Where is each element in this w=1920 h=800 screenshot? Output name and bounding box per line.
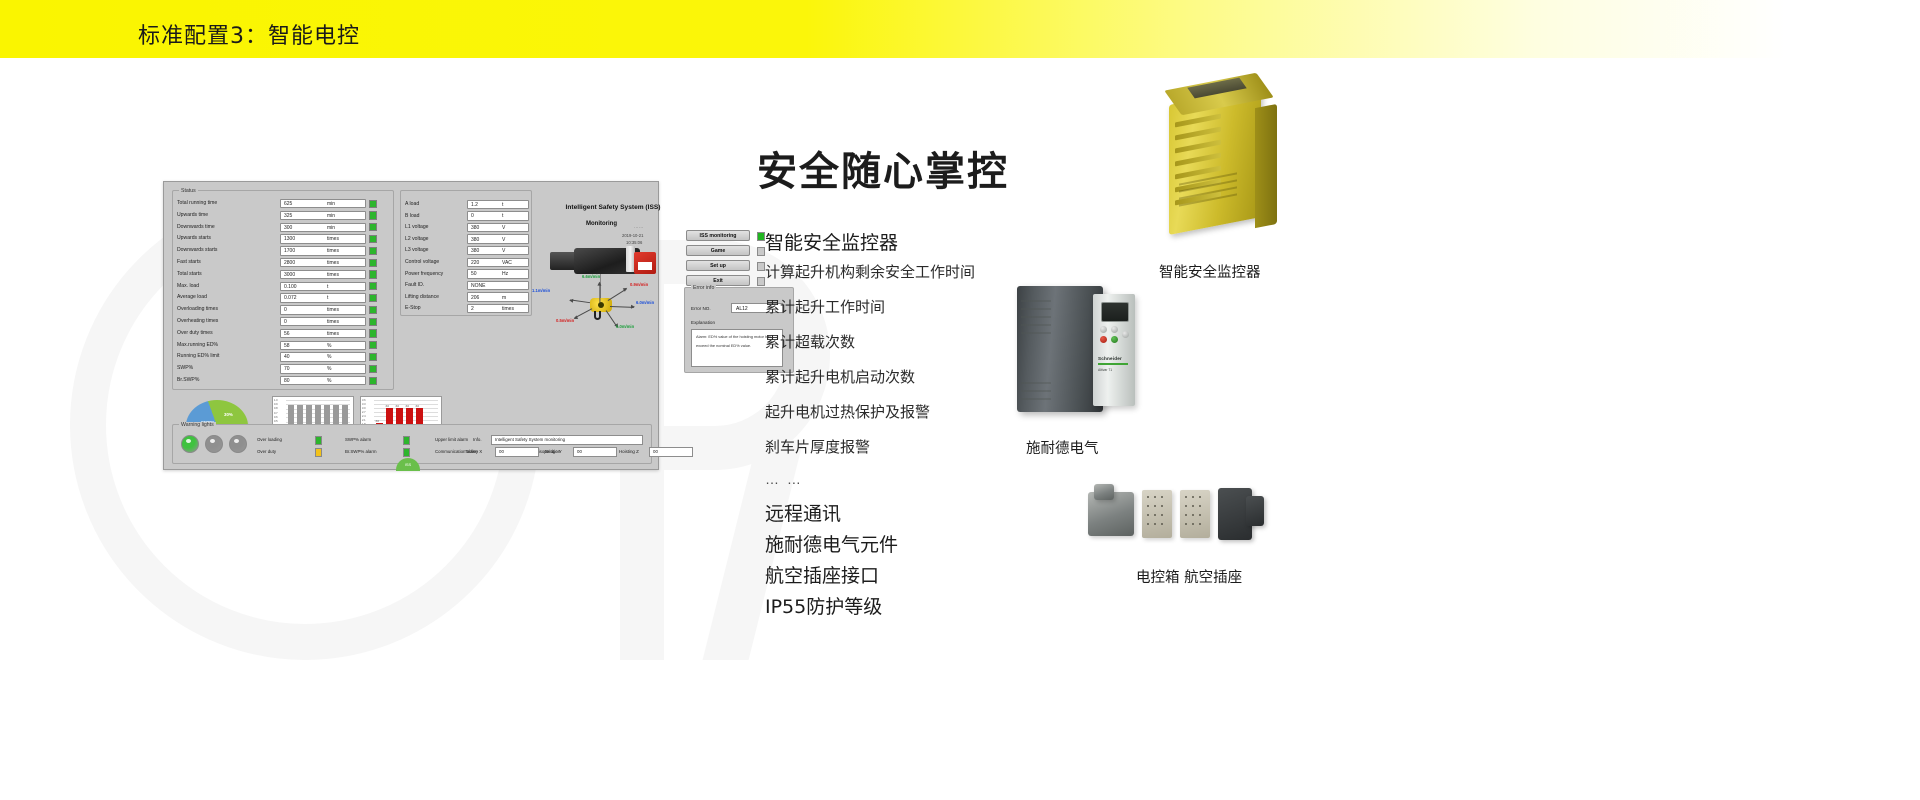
status-row-value: 625 [284,201,292,207]
feature-item: 计算起升机构剩余安全工作时间 [765,261,1157,282]
vfd-vent [1021,300,1051,302]
metric-row: A load1.2t [405,199,529,211]
status-row-label: Over duty times [177,330,213,336]
hmi-button-set-up[interactable]: Set up [686,260,750,271]
status-row-value: 3000 [284,272,295,278]
metric-row-value: 206 [471,295,479,301]
status-row-label: Br.SWP% [177,377,199,383]
error-explanation-label: Explanation [691,320,715,325]
status-row-value: 2800 [284,260,295,266]
metric-row-value: 50 [471,271,477,277]
status-row-label: Running ED% limit [177,353,219,359]
metric-row: E-Stop2times [405,303,529,315]
hoist-red-unit-graphic [634,252,656,274]
iss-mode-label: Monitoring [586,221,617,227]
metric-row-label: Control voltage [405,259,439,265]
status-row-led [369,294,377,302]
lamp-green [181,435,199,453]
vfd-vent [1021,316,1051,318]
status-row-field[interactable]: 3000times [280,270,366,279]
chart-y-tick: 2.1 [362,419,366,422]
status-row-label: Max.running ED% [177,342,218,348]
metric-row-unit: Hz [502,271,508,277]
connector-insert-female [1180,490,1210,538]
metric-row-label: L3 voltage [405,247,429,253]
metric-row-label: Power frequency [405,271,443,277]
metric-row-label: B load [405,213,419,219]
connector-insert-male [1142,490,1172,538]
status-row-value: 0.100 [284,284,297,290]
speed-label: 6.0m/min [636,300,654,305]
status-row-unit: times [327,307,339,313]
metric-row-value: 1.2 [471,202,478,208]
metric-row-field[interactable]: 206m [467,292,529,302]
status-row-value: 70 [284,366,290,372]
status-row-value: 1700 [284,248,295,254]
status-row-field[interactable]: 58% [280,341,366,350]
metric-row-field[interactable]: NONE [467,281,529,291]
status-row-label: Average load [177,294,207,300]
warning-indicator-led [403,436,410,445]
metric-row-label: L1 voltage [405,224,429,230]
metric-row-value: 2 [471,306,474,312]
status-row-field[interactable]: 0.100t [280,282,366,291]
status-row: Upwards starts1300times [177,234,391,245]
vfd-display-screen [1101,302,1129,322]
status-row-unit: times [327,248,339,254]
vfd-brand-text: Schneider [1098,356,1122,361]
vfd-vent [1021,332,1051,334]
vfd-nav-key[interactable] [1111,326,1118,333]
metric-row-value: 0 [471,213,474,219]
status-row-unit: times [327,236,339,242]
status-row: Upwards time325min [177,211,391,222]
hook-hole [598,302,604,308]
page-title: 标准配置3：智能电控 [138,18,360,50]
speed-arrow [599,283,600,303]
vfd-brand-bar [1098,363,1128,365]
iss-app-title: Intelligent Safety System (ISS) [548,204,678,211]
iss-time: 10:35:06 [626,240,642,245]
axis-value: 00 [577,449,582,454]
status-row-field[interactable]: 325min [280,211,366,220]
axis-label: Hoisting Z [619,449,639,454]
status-row: Overheating times0times [177,317,391,328]
status-group: Status Total running time625minUpwards t… [172,190,394,390]
metric-row: Lifting distance206m [405,292,529,304]
chart-data-label: 3.0 [396,405,399,408]
status-row-led [369,223,377,231]
metric-row-value: 380 [471,248,479,254]
metric-row-label: L2 voltage [405,236,429,242]
status-row-value: 56 [284,331,290,337]
vfd-vent [1021,398,1051,400]
metric-row-value: 220 [471,260,479,266]
hmi-button-game[interactable]: Game [686,245,750,256]
axis-label: Bridge Y [545,449,562,454]
metric-row: Power frequency50Hz [405,269,529,281]
speed-label: 0.5m/min [556,318,574,323]
metric-row: L2 voltage380V [405,234,529,246]
feature-item: 智能安全监控器 [765,228,1157,255]
metric-row-value: 380 [471,237,479,243]
status-row-label: Upwards starts [177,235,211,241]
axis-field[interactable]: 00 [495,447,539,457]
caption-connectors: 电控箱 航空插座 [1136,566,1242,587]
status-row-field[interactable]: 0.072t [280,293,366,302]
vfd-nav-key[interactable] [1100,326,1107,333]
speed-label: 0.0m/min [616,324,634,329]
error-group-title: Error info [691,285,716,291]
chart-y-tick: 2.4 [362,415,366,418]
status-row-field[interactable]: 40% [280,352,366,361]
vfd-run-key[interactable] [1111,336,1118,343]
warning-indicator-led [315,436,322,445]
hmi-button-iss-monitoring[interactable]: ISS monitoring [686,230,750,241]
warning-indicator-label: Upper limit alarm [435,437,468,442]
status-row-unit: times [327,272,339,278]
status-row-led [369,282,377,290]
feature-item: IP55防护等级 [765,592,1157,619]
status-row-unit: min [327,213,335,219]
status-row-field[interactable]: 1300times [280,234,366,243]
chart-data-label: 3.0 [406,405,409,408]
status-row-label: Total starts [177,271,202,277]
iss-mode-dots: ...... [634,224,644,229]
status-row-label: SWP% [177,365,193,371]
chart-y-tick: 3.6 [362,399,366,402]
status-row-led [369,377,377,385]
status-row-unit: times [327,260,339,266]
hoist-red-label [638,262,652,270]
speed-label: 6.6m/min [582,274,600,279]
status-row-field[interactable]: 300min [280,223,366,232]
metric-row-label: E-Stop [405,305,421,311]
status-row: Total starts3000times [177,270,391,281]
vfd-heatsink-body [1017,286,1103,412]
status-row-field[interactable]: 70% [280,364,366,373]
status-row-led [369,353,377,361]
warning-indicator-led [403,448,410,457]
warning-indicator-label: Over duty [257,449,276,454]
status-row-field[interactable]: 0times [280,305,366,314]
speed-arrow [570,299,590,303]
safety-relay-photo [1155,78,1285,243]
status-row-unit: min [327,201,335,207]
chart-data-label: 3.0 [376,420,379,423]
status-row: Max.running ED%58% [177,341,391,352]
status-row-value: 300 [284,225,292,231]
status-row-unit: min [327,225,335,231]
error-no-label: Error NO. [691,306,711,311]
vfd-vent [1021,382,1051,384]
status-row-field[interactable]: 1700times [280,246,366,255]
metric-row-value: 380 [471,225,479,231]
iss-date: 2019-10-21 [622,233,643,238]
status-row: Running ED% limit40% [177,352,391,363]
metric-row-field[interactable]: 0t [467,211,529,221]
status-row: Downwards starts1700times [177,246,391,257]
status-row-label: Upwards time [177,212,208,218]
caption-schneider: 施耐德电气 [1026,437,1099,458]
metric-row-field[interactable]: 50Hz [467,269,529,279]
feature-item: 航空插座接口 [765,561,1157,588]
status-row-unit: times [327,319,339,325]
status-row-led [369,270,377,278]
status-row-unit: % [327,378,331,384]
status-row-unit: % [327,354,331,360]
status-row: SWP%70% [177,364,391,375]
metric-row-label: A load [405,201,419,207]
iss-monitoring-area: Intelligent Safety System (ISS) Monitori… [538,190,678,390]
hmi-software-screenshot: Status Total running time625minUpwards t… [163,181,659,470]
metric-row-field[interactable]: 2times [467,304,529,314]
metric-row-field[interactable]: 380V [467,223,529,233]
status-row-value: 40 [284,354,290,360]
speed-label: 1.1m/min [532,288,550,293]
lamp-grey-1 [205,435,223,453]
status-row-led [369,200,377,208]
status-row-label: Fast starts [177,259,201,265]
info-value: Intelligent Safety System monitoring [495,437,565,442]
metric-row: Control voltage220VAC [405,257,529,269]
status-row-led [369,365,377,373]
axis-value: 00 [499,449,504,454]
chart-data-label: 3.0 [416,405,419,408]
chart-gridline [374,400,438,401]
info-field[interactable]: Intelligent Safety System monitoring [491,435,643,445]
vfd-front-panel: Schneider Altivar 71 [1093,294,1135,406]
vfd-vent [1021,390,1051,392]
vfd-keypad [1099,326,1131,352]
chart-y-tick: 0.5 [274,420,278,423]
status-row-value: 58 [284,343,290,349]
connector-cable-entry [1094,484,1114,500]
metric-row-field[interactable]: 380V [467,234,529,244]
chart-y-tick: 0.6 [274,416,278,419]
metric-row-unit: t [502,202,503,208]
status-row-unit: times [327,331,339,337]
metric-row-field[interactable]: 380V [467,246,529,256]
status-row-label: Downwards time [177,224,215,230]
metric-row-value: NONE [471,283,485,289]
status-row-unit: % [327,343,331,349]
vfd-vent [1021,308,1051,310]
status-row-led [369,329,377,337]
chart-data-label: 3.0 [386,405,389,408]
status-row: Fast starts2800times [177,258,391,269]
metric-row: L1 voltage380V [405,222,529,234]
error-no-value: AL12 [736,306,748,312]
status-row: Br.SWP%80% [177,376,391,387]
axis-field[interactable]: 00 [649,447,693,457]
status-row-field[interactable]: 0times [280,317,366,326]
speed-arrow [574,308,592,318]
metric-row-unit: m [502,295,506,301]
status-row-unit: t [327,284,328,290]
status-row-label: Overheating times [177,318,218,324]
metric-row: Fault ID.NONE [405,280,529,292]
status-row-field[interactable]: 2800times [280,258,366,267]
status-row: Over duty times56times [177,329,391,340]
status-row: Overloading times0times [177,305,391,316]
metric-row-field[interactable]: 1.2t [467,200,529,210]
status-row-value: 0.072 [284,295,297,301]
status-row-unit: t [327,295,328,301]
header-banner: 标准配置3：智能电控 [0,0,1920,58]
pie-label-other: 30% [224,412,233,417]
status-row-field[interactable]: 56times [280,329,366,338]
chart-y-tick: 3.3 [362,403,366,406]
metric-row-unit: V [502,248,505,254]
status-row-led [369,247,377,255]
chart-y-tick: 2.7 [362,411,366,414]
safety-relay-side [1255,104,1277,228]
status-group-title: Status [179,188,198,194]
chart-y-tick: 0.7 [274,412,278,415]
axis-field[interactable]: 00 [573,447,617,457]
connector-photos [1088,482,1298,552]
axis-label: Trolley X [465,449,482,454]
status-row-label: Downwards starts [177,247,217,253]
vfd-model-text: Altivar 71 [1098,368,1112,372]
status-row-label: Total running time [177,200,217,206]
status-row-led [369,211,377,219]
status-row-led [369,318,377,326]
warning-indicator-label: Over loading [257,437,282,442]
metric-row-field[interactable]: 220VAC [467,258,529,268]
warning-group-title: Warning lights [179,422,216,428]
chart-y-tick: 0.9 [274,403,278,406]
status-row-value: 1300 [284,236,295,242]
status-row-led [369,259,377,267]
chart-y-tick: 1.0 [274,399,278,402]
metric-row: B load0t [405,211,529,223]
metric-row-unit: times [502,306,514,312]
speed-label: 0.9m/min [630,282,648,287]
metric-row-unit: V [502,225,505,231]
chart-y-tick: 0.8 [274,407,278,410]
speed-arrow [610,306,634,308]
status-row-led [369,235,377,243]
metric-row-label: Fault ID. [405,282,424,288]
metric-row-label: Lifting distance [405,294,439,300]
metric-row-unit: t [502,213,503,219]
metric-row: L3 voltage380V [405,245,529,257]
schneider-vfd-photo: Schneider Altivar 71 [1005,282,1145,422]
status-row-label: Overloading times [177,306,218,312]
status-row: Max. load0.100t [177,282,391,293]
axis-value: 00 [653,449,658,454]
status-row-field[interactable]: 625min [280,199,366,208]
status-row-value: 80 [284,378,290,384]
status-row-value: 325 [284,213,292,219]
status-row-field[interactable]: 80% [280,376,366,385]
status-row-led [369,306,377,314]
vfd-enter-key[interactable] [1122,331,1129,338]
chart-gridline [286,400,350,401]
metric-row-unit: V [502,237,505,243]
speed-arrow [608,288,627,301]
hook-graphic [594,311,601,320]
status-row: Total running time625min [177,199,391,210]
status-row-value: 0 [284,307,287,313]
connector-black-latch [1246,496,1264,526]
warning-indicator-label: Br.SWP% alarm [345,449,376,454]
metrics-group: A load1.2tB load0tL1 voltage380VL2 volta… [400,190,532,316]
status-row-label: Max. load [177,283,199,289]
status-row: Downwards time300min [177,223,391,234]
vfd-vent [1021,324,1051,326]
caption-safety-relay: 智能安全监控器 [1159,261,1261,282]
warning-indicator-led [315,448,322,457]
metric-row-unit: VAC [502,260,512,266]
info-label: Info. [473,437,482,442]
vfd-stop-key[interactable] [1100,336,1107,343]
status-row-value: 0 [284,319,287,325]
chart-y-tick: 3.0 [362,407,366,410]
status-row: Average load0.072t [177,293,391,304]
status-row-led [369,341,377,349]
warning-indicator-label: SWP% alarm [345,437,371,442]
lamp-grey-2 [229,435,247,453]
status-row-unit: % [327,366,331,372]
headline: 安全随心掌控 [757,150,1157,194]
